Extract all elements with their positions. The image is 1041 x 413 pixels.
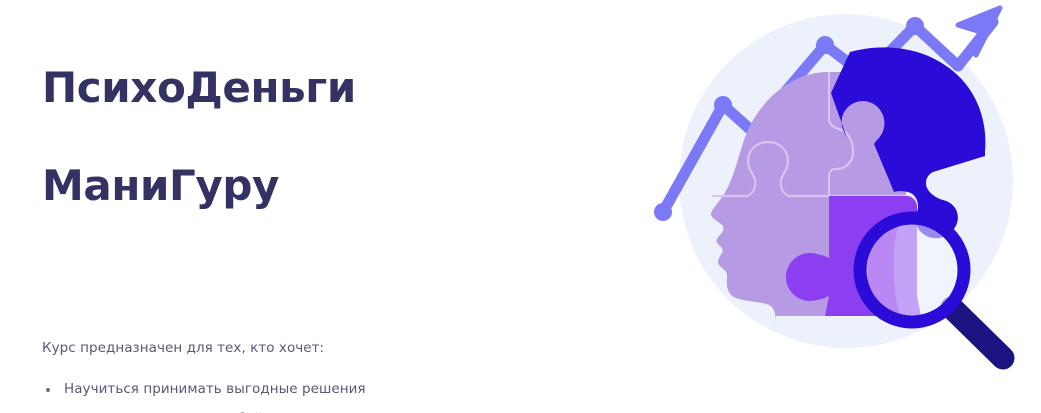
benefit-list: Научиться принимать выгодные решения Изв… bbox=[42, 383, 620, 413]
landing-hero: ПсихоДеньги МаниГуру Курс предназначен д… bbox=[0, 0, 1041, 413]
growth-arrow-head bbox=[958, 8, 1000, 55]
list-item: Научиться принимать выгодные решения bbox=[42, 383, 620, 397]
lead-paragraph: Курс предназначен для тех, кто хочет: bbox=[42, 339, 620, 358]
growth-line-dot-right bbox=[906, 17, 924, 35]
bright-piece-knob bbox=[786, 253, 834, 301]
illustration-svg bbox=[640, 0, 1041, 413]
page-title-line-2: МаниГуру bbox=[42, 161, 620, 210]
page-title: ПсихоДеньги МаниГуру bbox=[42, 14, 620, 260]
magnifier-handle bbox=[952, 308, 1003, 358]
hero-text-column: ПсихоДеньги МаниГуру Курс предназначен д… bbox=[0, 0, 640, 413]
page-title-line-1: ПсихоДеньги bbox=[42, 63, 620, 112]
growth-line-dot-peak bbox=[714, 96, 732, 114]
growth-line-dot-start bbox=[654, 203, 672, 221]
hero-illustration bbox=[640, 0, 1041, 413]
head-right-tab-knob bbox=[822, 122, 868, 168]
growth-line-dot-mid bbox=[816, 36, 834, 54]
